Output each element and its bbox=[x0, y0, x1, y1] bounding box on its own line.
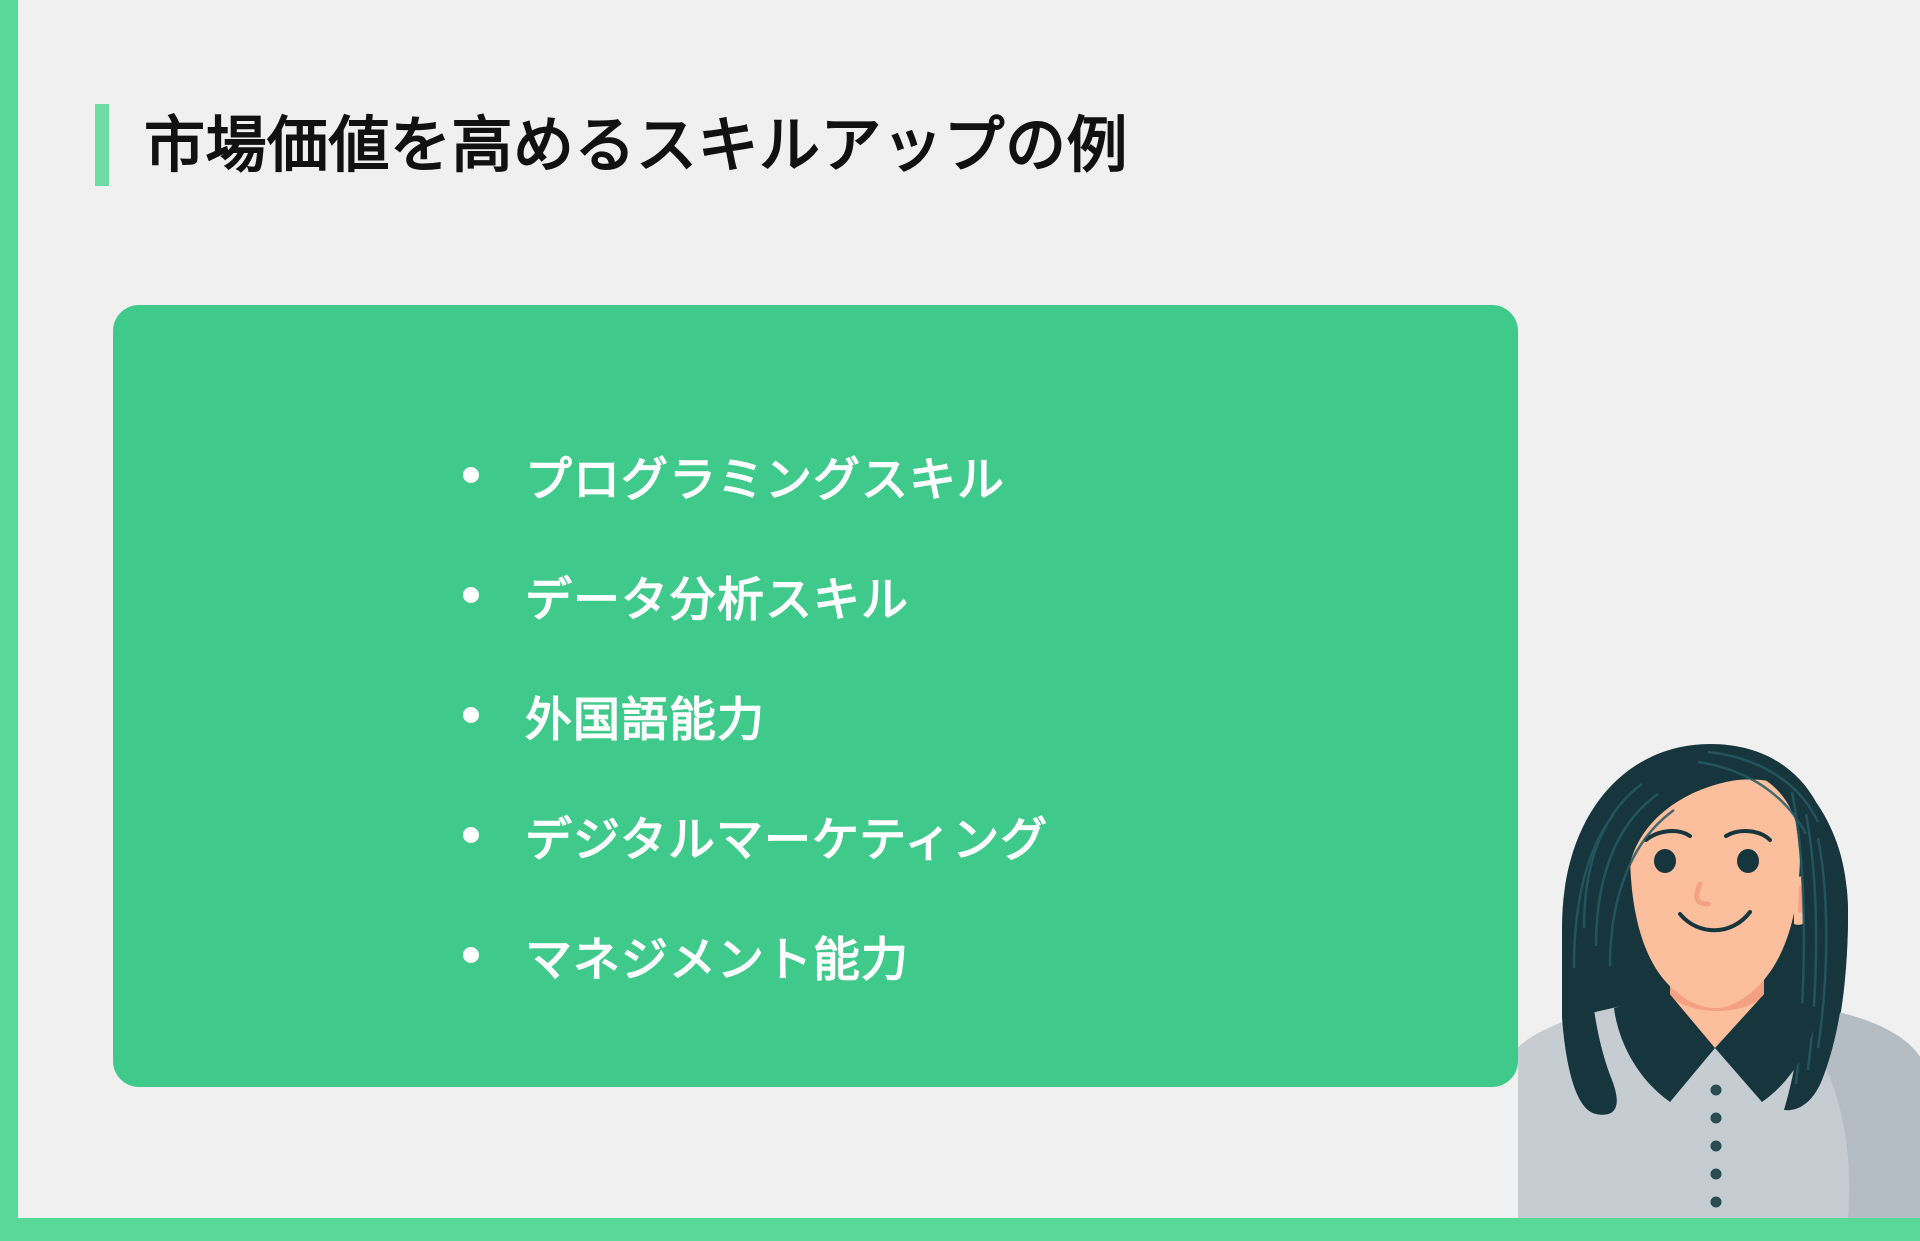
eye-left bbox=[1654, 849, 1676, 873]
list-item-label: プログラミングスキル bbox=[525, 441, 1005, 510]
bullet-dot-icon bbox=[463, 707, 479, 723]
eye-right bbox=[1737, 849, 1759, 873]
list-item-label: 外国語能力 bbox=[525, 681, 765, 750]
bullet-dot-icon bbox=[463, 947, 479, 963]
list-item: プログラミングスキル bbox=[463, 415, 1048, 535]
slide-canvas: 市場価値を高めるスキルアップの例 プログラミングスキル データ分析スキル 外国語… bbox=[18, 0, 1920, 1218]
list-item-label: マネジメント能力 bbox=[525, 921, 909, 990]
list-item-label: デジタルマーケティング bbox=[525, 801, 1048, 870]
list-item: デジタルマーケティング bbox=[463, 775, 1048, 895]
skills-card: プログラミングスキル データ分析スキル 外国語能力 デジタルマーケティング マネ… bbox=[113, 305, 1518, 1087]
page-title: 市場価値を高めるスキルアップの例 bbox=[95, 104, 1128, 186]
list-item: データ分析スキル bbox=[463, 535, 1048, 655]
bullet-dot-icon bbox=[463, 827, 479, 843]
list-item-label: データ分析スキル bbox=[525, 561, 909, 630]
list-item: マネジメント能力 bbox=[463, 895, 1048, 1015]
title-text: 市場価値を高めるスキルアップの例 bbox=[144, 104, 1128, 186]
bullet-dot-icon bbox=[463, 467, 479, 483]
title-accent-bar bbox=[95, 104, 109, 186]
woman-avatar-illustration bbox=[1518, 718, 1920, 1218]
list-item: 外国語能力 bbox=[463, 655, 1048, 775]
skills-list: プログラミングスキル データ分析スキル 外国語能力 デジタルマーケティング マネ… bbox=[463, 415, 1048, 1015]
bullet-dot-icon bbox=[463, 587, 479, 603]
